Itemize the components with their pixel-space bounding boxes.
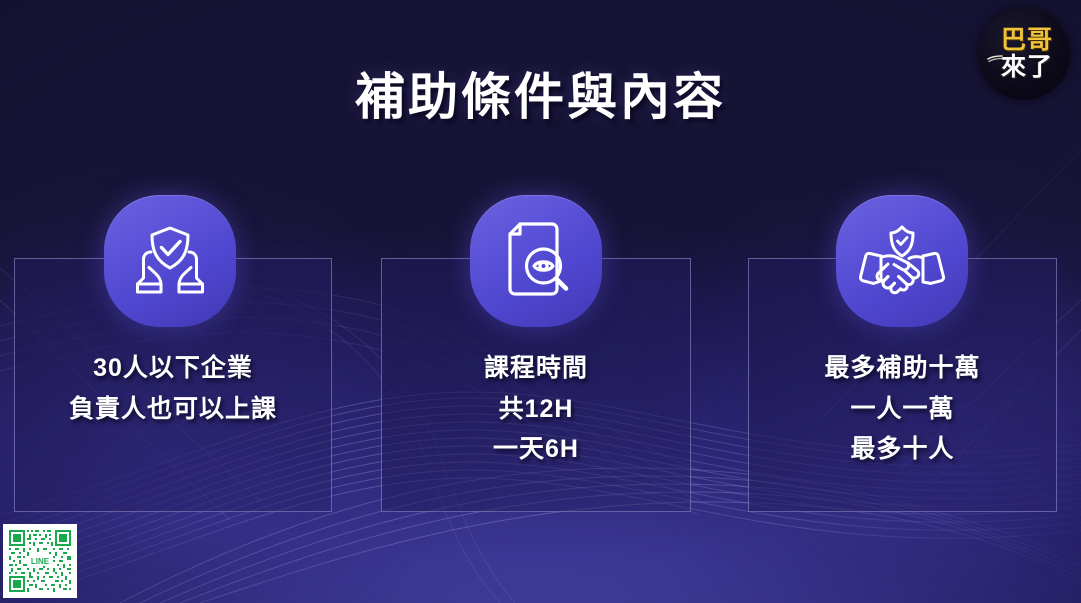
page-title: 補助條件與內容 [0,57,1081,129]
icon-badge-2 [470,195,602,327]
card-text-1: 30人以下企業 負責人也可以上課 [14,348,332,429]
logo-swoosh-icon [987,50,1003,62]
card-1-heading: 30人以下企業 [14,348,332,389]
card-2-line-1: 共12H [381,389,691,430]
card-2-heading: 課程時間 [381,348,691,389]
channel-logo[interactable]: 巴哥 來了 [978,8,1070,100]
card-1-line-1: 負責人也可以上課 [14,389,332,430]
document-search-eye-icon [496,219,576,303]
card-2-line-2: 一天6H [381,429,691,470]
card-text-2: 課程時間 共12H 一天6H [381,348,691,470]
card-3-line-2: 最多十人 [748,429,1057,470]
card-text-3: 最多補助十萬 一人一萬 最多十人 [748,348,1057,470]
qr-line-label: LINE [31,557,50,566]
logo-line-2: 來了 [1001,55,1053,80]
shield-in-hands-icon [128,222,212,300]
presentation-slide: 補助條件與內容 [0,0,1081,603]
card-3-line-1: 一人一萬 [748,389,1057,430]
icon-badge-3 [836,195,968,327]
handshake-shield-icon [858,223,946,299]
line-qr-code[interactable]: LINE [3,524,77,598]
card-3-heading: 最多補助十萬 [748,348,1057,389]
icon-badge-1 [104,195,236,327]
logo-line-1: 巴哥 [1001,28,1053,53]
